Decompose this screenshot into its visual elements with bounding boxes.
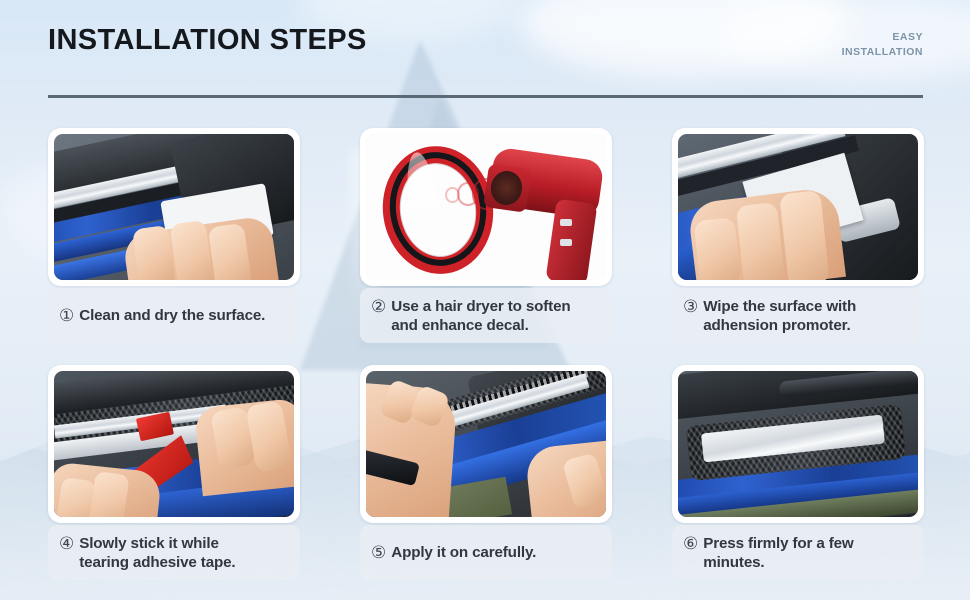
step-card-5: ⑤ Apply it on carefully.	[360, 365, 612, 580]
step-caption-3: ③ Wipe the surface with adhension promot…	[672, 288, 924, 343]
step-photo-frame	[48, 365, 300, 523]
infographic-page: INSTALLATION STEPS EASY INSTALLATION	[0, 0, 970, 600]
step-number-5: ⑤	[371, 543, 386, 562]
step-card-3: ③ Wipe the surface with adhension promot…	[672, 128, 924, 343]
step-caption-2: ② Use a hair dryer to soften and enhance…	[360, 288, 612, 343]
steps-grid: ① Clean and dry the surface.	[48, 128, 924, 580]
step-photo-finished-sill	[678, 371, 918, 517]
step-number-3: ③	[683, 297, 698, 316]
page-title: INSTALLATION STEPS	[48, 24, 367, 57]
step-text-3: Wipe the surface with adhension promoter…	[703, 297, 856, 335]
step-caption-6: ⑥ Press firmly for a few minutes.	[672, 525, 924, 580]
step-text-5: Apply it on carefully.	[391, 543, 536, 562]
step-text-2: Use a hair dryer to soften and enhance d…	[391, 297, 570, 335]
step-number-2: ②	[371, 297, 386, 316]
step-photo-squeegee	[54, 371, 294, 517]
step-photo-frame	[672, 128, 924, 286]
step-number-4: ④	[59, 534, 74, 553]
step-photo-frame	[672, 365, 924, 523]
step-card-6: ⑥ Press firmly for a few minutes.	[672, 365, 924, 580]
step-photo-frame	[360, 365, 612, 523]
step-caption-4: ④ Slowly stick it while tearing adhesive…	[48, 525, 300, 580]
step-number-6: ⑥	[683, 534, 698, 553]
step-text-4: Slowly stick it while tearing adhesive t…	[79, 534, 235, 572]
step-photo-frame	[48, 128, 300, 286]
step-card-1: ① Clean and dry the surface.	[48, 128, 300, 343]
step-photo-hair-dryer	[366, 134, 606, 280]
tagline-line-2: INSTALLATION	[842, 45, 923, 60]
header-divider	[48, 95, 923, 98]
step-card-2: ② Use a hair dryer to soften and enhance…	[360, 128, 612, 343]
page-header: INSTALLATION STEPS EASY INSTALLATION	[0, 0, 970, 110]
tagline-line-1: EASY	[842, 30, 923, 45]
step-photo-frame	[360, 128, 612, 286]
step-photo-apply-strip	[366, 371, 606, 517]
step-caption-1: ① Clean and dry the surface.	[48, 288, 300, 343]
step-text-1: Clean and dry the surface.	[79, 306, 265, 325]
step-number-1: ①	[59, 306, 74, 325]
step-text-6: Press firmly for a few minutes.	[703, 534, 853, 572]
step-caption-5: ⑤ Apply it on carefully.	[360, 525, 612, 580]
step-photo-clean-surface	[54, 134, 294, 280]
tagline: EASY INSTALLATION	[842, 30, 923, 60]
step-photo-adhesion-promoter	[678, 134, 918, 280]
step-card-4: ④ Slowly stick it while tearing adhesive…	[48, 365, 300, 580]
